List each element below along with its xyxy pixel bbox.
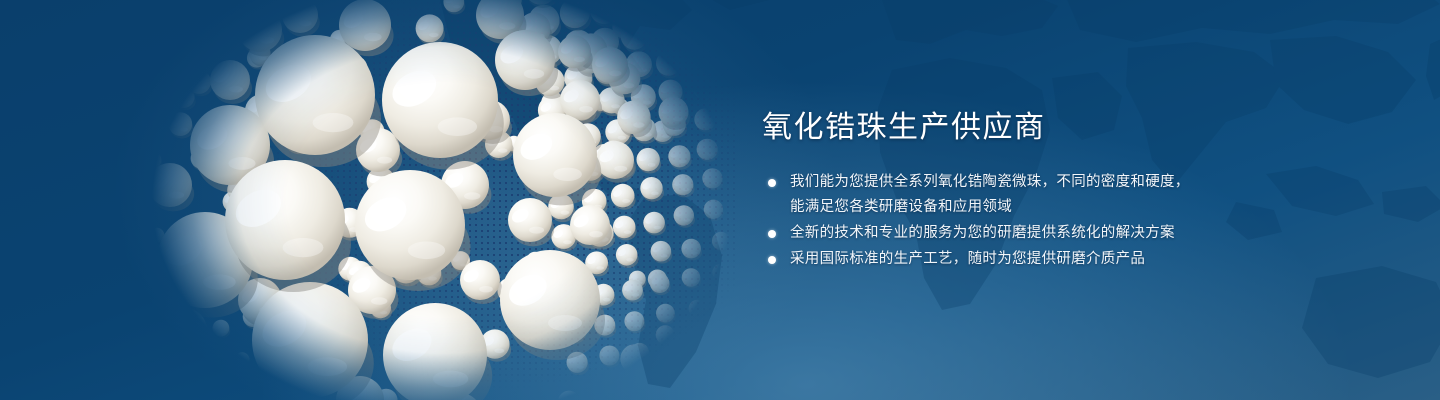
feature-list: 我们能为您提供全系列氧化锆陶瓷微珠，不同的密度和硬度， 能满足您各类研磨设备和应… (762, 170, 1382, 272)
bullet-dot-icon (768, 256, 776, 264)
bullet-dot-icon (768, 179, 776, 187)
bullet-dot-icon (768, 230, 776, 238)
list-item: 全新的技术和专业的服务为您的研磨提供系统化的解决方案 (762, 221, 1382, 246)
page-title: 氧化锆珠生产供应商 (762, 108, 1382, 148)
banner-text-block: 氧化锆珠生产供应商 我们能为您提供全系列氧化锆陶瓷微珠，不同的密度和硬度， 能满… (762, 108, 1382, 273)
hero-banner: 氧化锆珠生产供应商 我们能为您提供全系列氧化锆陶瓷微珠，不同的密度和硬度， 能满… (0, 0, 1440, 400)
halftone-dot-pattern (95, 0, 735, 400)
list-item: 我们能为您提供全系列氧化锆陶瓷微珠，不同的密度和硬度， 能满足您各类研磨设备和应… (762, 170, 1382, 220)
list-item-line-1: 采用国际标准的生产工艺，随时为您提供研磨介质产品 (790, 251, 1145, 267)
list-item-line-1: 全新的技术和专业的服务为您的研磨提供系统化的解决方案 (790, 225, 1175, 241)
list-item-line-2: 能满足您各类研磨设备和应用领域 (790, 195, 1382, 220)
list-item: 采用国际标准的生产工艺，随时为您提供研磨介质产品 (762, 247, 1382, 272)
zirconia-beads-photo (110, 0, 750, 400)
list-item-line-1: 我们能为您提供全系列氧化锆陶瓷微珠，不同的密度和硬度， (790, 174, 1190, 190)
